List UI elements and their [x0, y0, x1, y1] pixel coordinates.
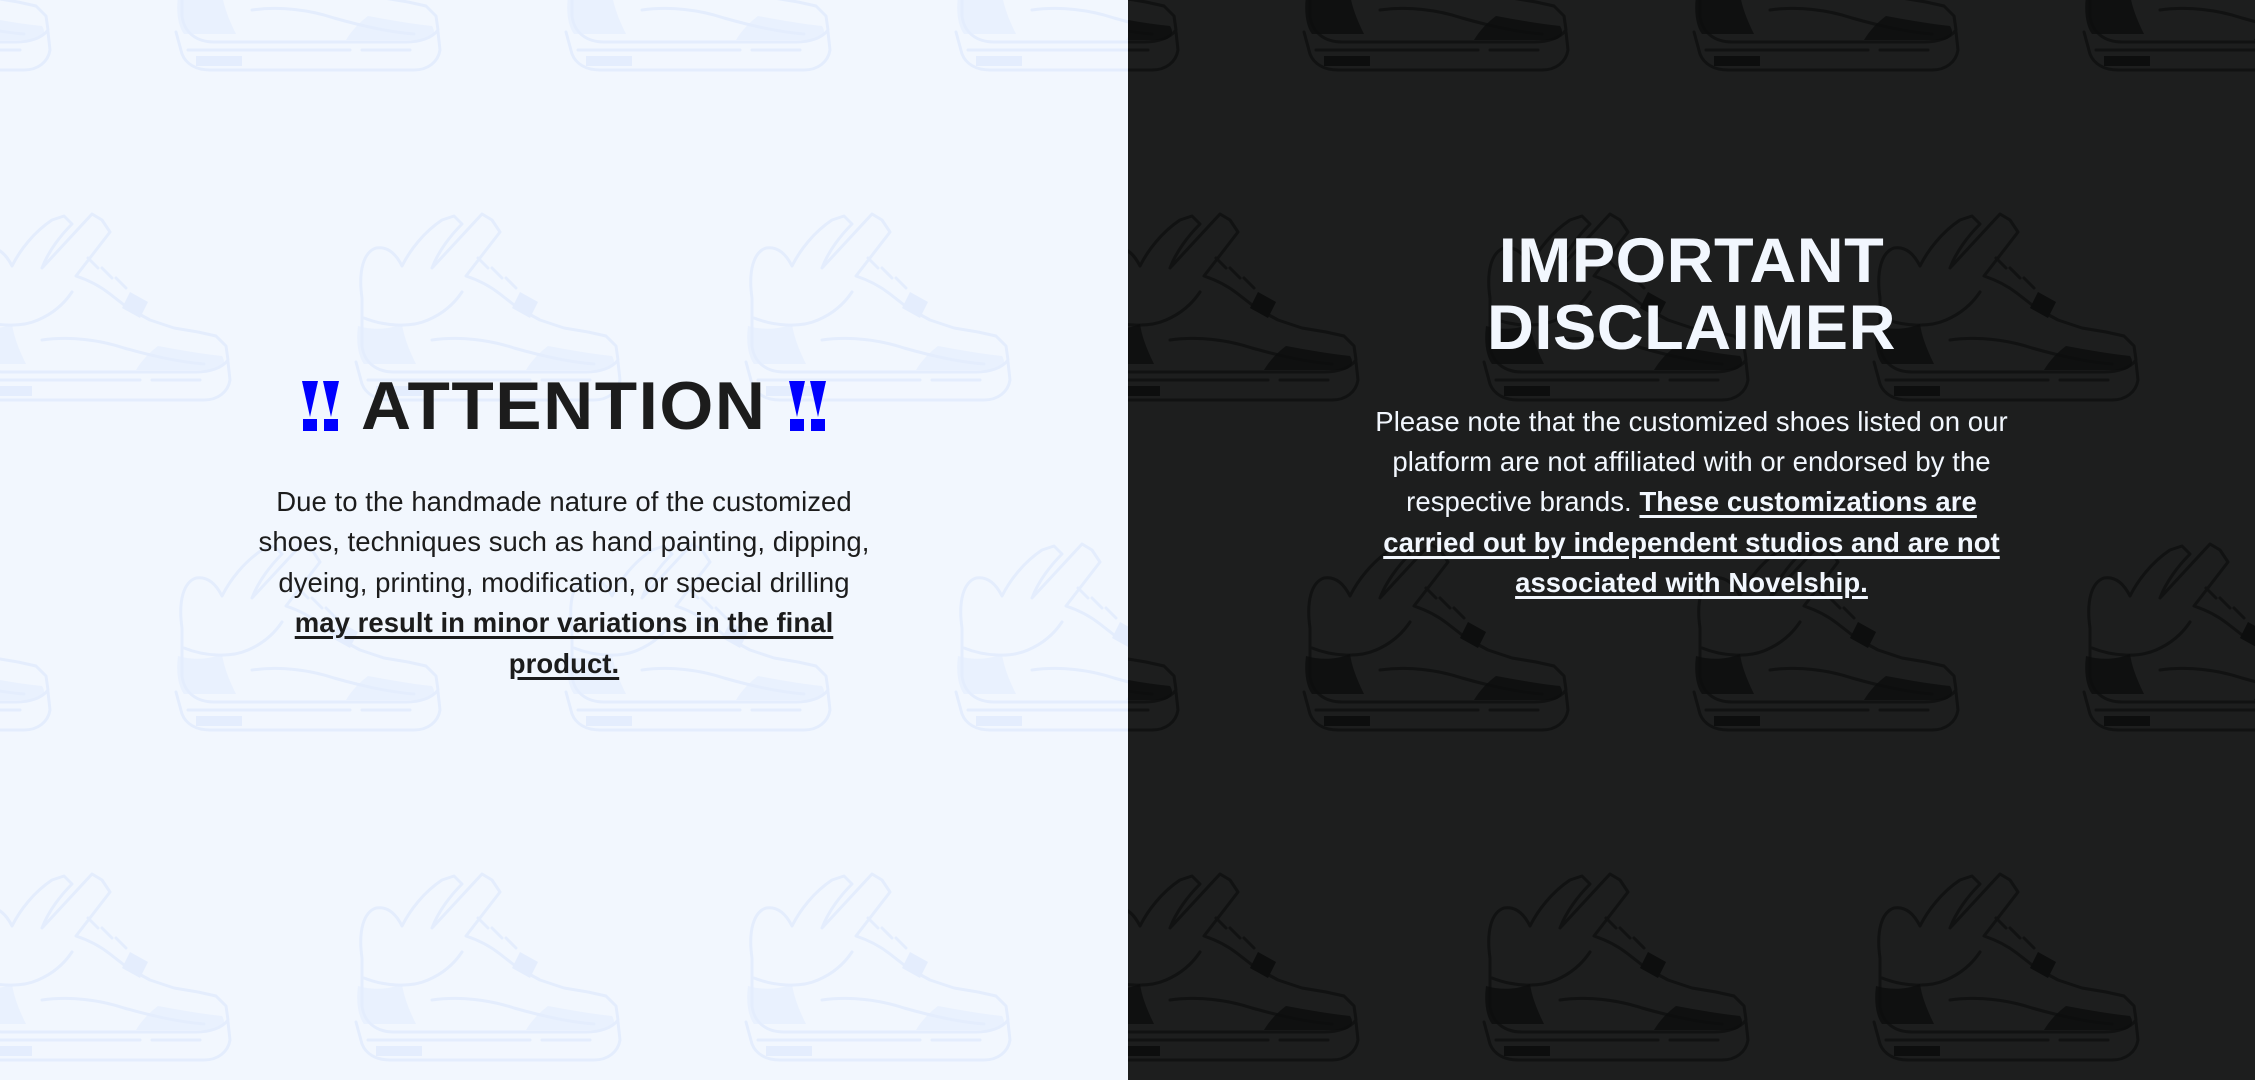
- attention-panel: ATTENTION Due to the handmade nature of …: [0, 0, 1128, 1080]
- attention-body: Due to the handmade nature of the custom…: [254, 482, 874, 684]
- attention-body-emphasis: may result in minor variations in the fi…: [295, 607, 834, 678]
- disclaimer-body: Please note that the customized shoes li…: [1372, 402, 2012, 604]
- double-exclamation-icon: [302, 381, 339, 431]
- split-banner: ATTENTION Due to the handmade nature of …: [0, 0, 2255, 1080]
- attention-heading-text: ATTENTION: [361, 372, 766, 440]
- attention-body-normal: Due to the handmade nature of the custom…: [259, 486, 870, 598]
- disclaimer-heading-line-1: IMPORTANT: [1487, 228, 1896, 295]
- double-exclamation-icon: [789, 381, 826, 431]
- disclaimer-heading-line-2: DISCLAIMER: [1487, 295, 1896, 362]
- disclaimer-heading: IMPORTANT DISCLAIMER: [1487, 228, 1896, 362]
- disclaimer-panel: IMPORTANT DISCLAIMER Please note that th…: [1128, 0, 2255, 1080]
- attention-heading: ATTENTION: [302, 372, 826, 440]
